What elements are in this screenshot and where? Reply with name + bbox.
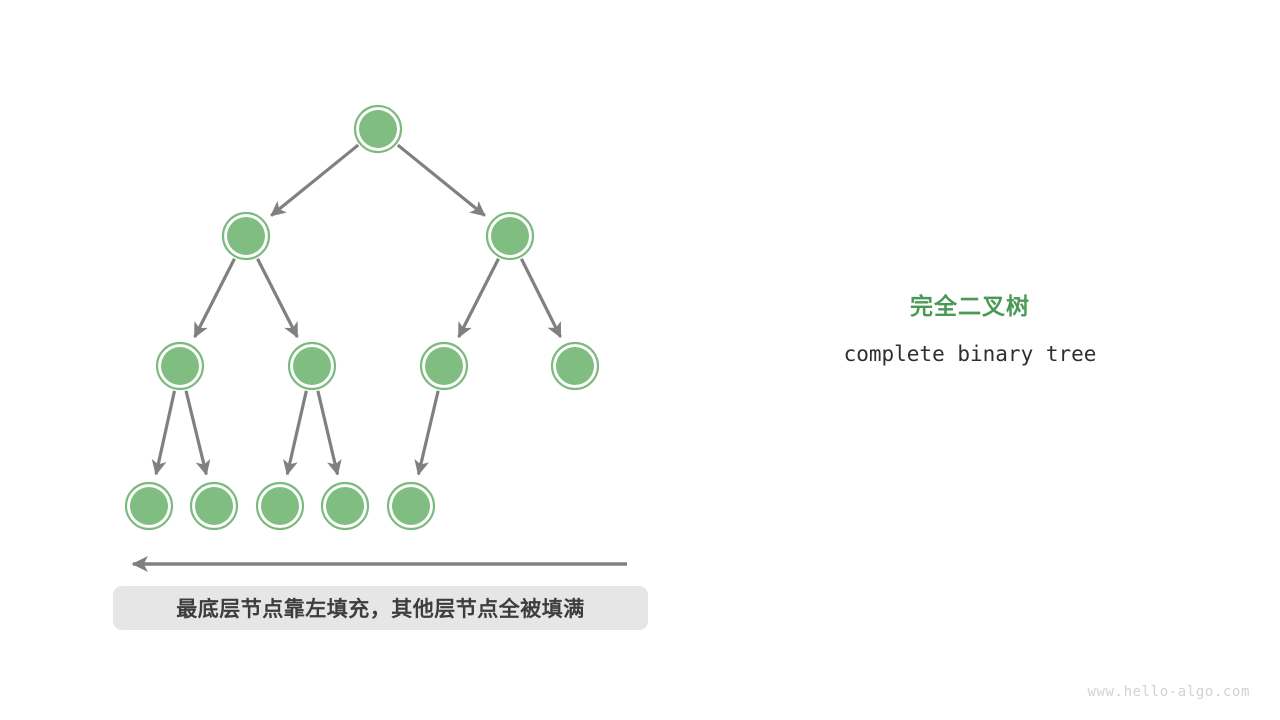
- tree-node-fill: [392, 487, 430, 525]
- watermark: www.hello-algo.com: [1087, 684, 1250, 700]
- tree-node-fill: [227, 217, 265, 255]
- tree-node: [191, 483, 237, 529]
- tree-edges: [156, 145, 560, 474]
- tree-edge: [398, 145, 485, 215]
- tree-edge: [186, 391, 206, 475]
- tree-node: [388, 483, 434, 529]
- tree-edge: [318, 391, 338, 475]
- tree-nodes: [126, 106, 598, 529]
- tree-edge: [521, 259, 560, 337]
- legend-block: 完全二叉树 complete binary tree: [780, 290, 1160, 367]
- tree-edge: [418, 391, 438, 475]
- tree-node-fill: [556, 347, 594, 385]
- tree-node: [355, 106, 401, 152]
- tree-node: [223, 213, 269, 259]
- caption-text: 最底层节点靠左填充，其他层节点全被填满: [176, 593, 585, 623]
- legend-title: 完全二叉树: [780, 290, 1160, 322]
- tree-node: [421, 343, 467, 389]
- tree-node: [157, 343, 203, 389]
- tree-node-fill: [293, 347, 331, 385]
- tree-edge: [271, 145, 358, 215]
- tree-node: [257, 483, 303, 529]
- caption-bar: 最底层节点靠左填充，其他层节点全被填满: [113, 586, 648, 630]
- tree-node: [322, 483, 368, 529]
- tree-node-fill: [326, 487, 364, 525]
- tree-node-fill: [161, 347, 199, 385]
- tree-node: [552, 343, 598, 389]
- tree-node-fill: [130, 487, 168, 525]
- tree-edge: [459, 259, 499, 337]
- tree-node: [126, 483, 172, 529]
- tree-edge: [156, 391, 174, 474]
- tree-node-fill: [425, 347, 463, 385]
- tree-node-fill: [359, 110, 397, 148]
- tree-node: [487, 213, 533, 259]
- tree-edge: [287, 391, 306, 474]
- legend-subtitle: complete binary tree: [780, 341, 1160, 367]
- tree-node-fill: [195, 487, 233, 525]
- tree-edge: [195, 259, 235, 337]
- tree-node-fill: [491, 217, 529, 255]
- tree-node: [289, 343, 335, 389]
- tree-node-fill: [261, 487, 299, 525]
- tree-edge: [258, 259, 298, 337]
